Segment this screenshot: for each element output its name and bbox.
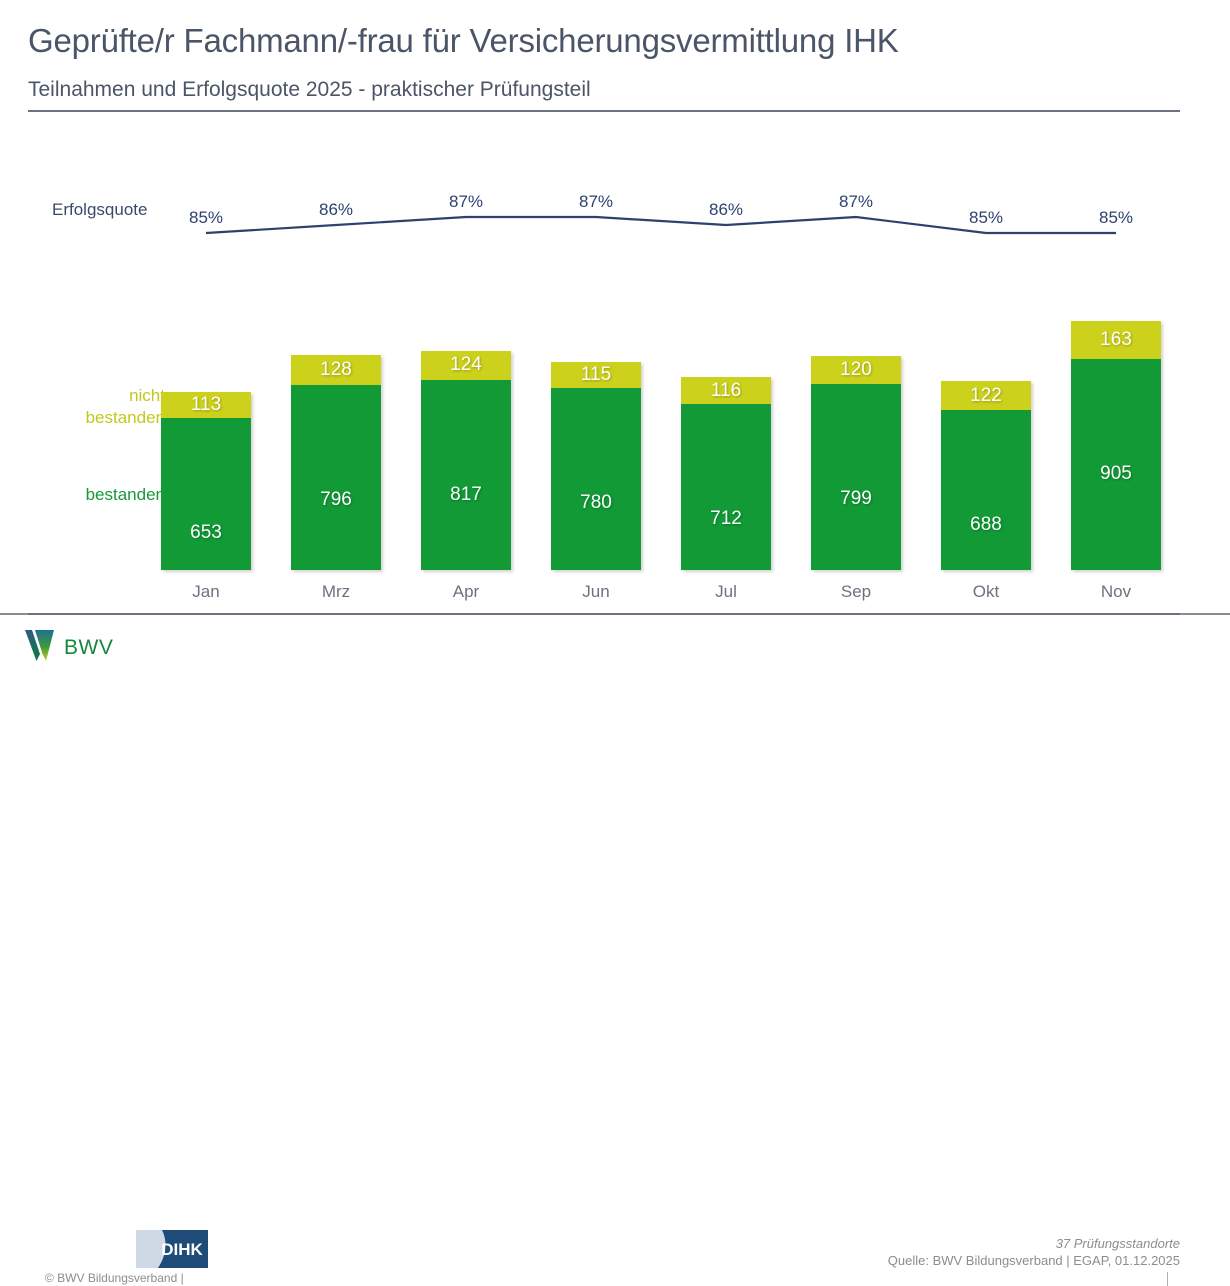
category-label-apr: Apr xyxy=(421,582,511,602)
bar-group[interactable]: 124817 xyxy=(421,351,511,570)
chart-footer: BWV DIHK © BWV Bildungsverband | 37 Prüf… xyxy=(0,612,1230,691)
bwv-double-v-icon xyxy=(24,628,62,662)
bwv-wordmark: BWV xyxy=(64,636,113,660)
bar-segment-nicht-bestanden[interactable]: 163 xyxy=(1071,321,1161,359)
bar-segment-bestanden[interactable]: 796 xyxy=(291,385,381,570)
bar-segment-bestanden[interactable]: 799 xyxy=(811,384,901,570)
bar-segment-nicht-bestanden[interactable]: 122 xyxy=(941,381,1031,409)
bar-segment-bestanden[interactable]: 653 xyxy=(161,418,251,570)
bar-value-label: 124 xyxy=(421,354,511,376)
category-label-sep: Sep xyxy=(811,582,901,602)
bar-group[interactable]: 128796 xyxy=(291,355,381,570)
bar-segment-nicht-bestanden[interactable]: 113 xyxy=(161,392,251,418)
bar-value-label: 799 xyxy=(811,488,901,510)
category-label-jul: Jul xyxy=(681,582,771,602)
bwv-logo: BWV xyxy=(24,628,129,664)
sites-count-note: 37 Prüfungsstandorte xyxy=(1056,1236,1180,1251)
category-label-jan: Jan xyxy=(161,582,251,602)
legend-bestanden: bestanden xyxy=(20,484,165,506)
bar-value-label: 817 xyxy=(421,484,511,506)
source-note: Quelle: BWV Bildungsverband | EGAP, 01.1… xyxy=(888,1253,1180,1268)
bar-value-label: 120 xyxy=(811,359,901,381)
dihk-wordmark-text: DIHK xyxy=(161,1240,203,1259)
footer-divider xyxy=(28,613,1180,615)
bar-group[interactable]: 116712 xyxy=(681,377,771,570)
bar-value-label: 712 xyxy=(681,508,771,530)
bar-value-label: 116 xyxy=(681,380,771,402)
bar-value-label: 905 xyxy=(1071,463,1161,485)
bar-value-label: 113 xyxy=(161,394,251,416)
bar-segment-bestanden[interactable]: 905 xyxy=(1071,359,1161,570)
bar-segment-nicht-bestanden[interactable]: 124 xyxy=(421,351,511,380)
bar-group[interactable]: 113653 xyxy=(161,392,251,570)
bar-value-label: 163 xyxy=(1071,329,1161,351)
legend-fail-line2: bestanden xyxy=(20,407,165,429)
bar-segment-nicht-bestanden[interactable]: 116 xyxy=(681,377,771,404)
bar-value-label: 653 xyxy=(161,522,251,544)
copyright-note: © BWV Bildungsverband | xyxy=(45,1271,184,1285)
bar-value-label: 115 xyxy=(551,364,641,386)
bar-segment-bestanden[interactable]: 817 xyxy=(421,380,511,570)
footer-tick-mark xyxy=(1167,1272,1168,1286)
bar-segment-nicht-bestanden[interactable]: 120 xyxy=(811,356,901,384)
legend-fail-line1: nicht xyxy=(20,385,165,407)
dihk-logo: DIHK xyxy=(136,1230,208,1268)
category-label-nov: Nov xyxy=(1071,582,1161,602)
category-label-jun: Jun xyxy=(551,582,641,602)
bar-chart-plot: nicht bestanden bestanden 11365312879612… xyxy=(0,0,1230,691)
bar-segment-nicht-bestanden[interactable]: 115 xyxy=(551,362,641,389)
bar-value-label: 796 xyxy=(291,489,381,511)
legend-nicht-bestanden: nicht bestanden xyxy=(20,385,165,429)
bar-group[interactable]: 122688 xyxy=(941,381,1031,570)
bar-segment-nicht-bestanden[interactable]: 128 xyxy=(291,355,381,385)
bar-segment-bestanden[interactable]: 688 xyxy=(941,410,1031,570)
bar-value-label: 122 xyxy=(941,385,1031,407)
bar-value-label: 780 xyxy=(551,492,641,514)
bar-value-label: 688 xyxy=(941,514,1031,536)
bar-segment-bestanden[interactable]: 712 xyxy=(681,404,771,570)
bar-group[interactable]: 115780 xyxy=(551,362,641,570)
bar-group[interactable]: 120799 xyxy=(811,356,901,570)
category-label-okt: Okt xyxy=(941,582,1031,602)
bar-segment-bestanden[interactable]: 780 xyxy=(551,388,641,570)
bar-group[interactable]: 163905 xyxy=(1071,321,1161,570)
bar-value-label: 128 xyxy=(291,359,381,381)
category-label-mrz: Mrz xyxy=(291,582,381,602)
